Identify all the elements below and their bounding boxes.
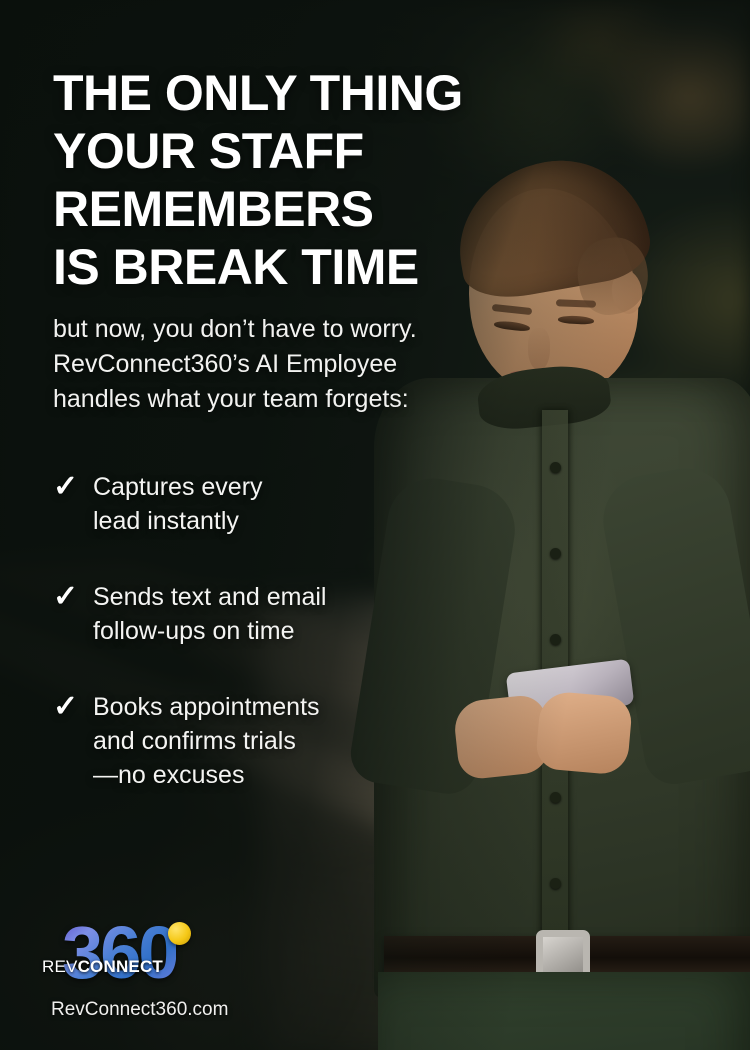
list-item-text: Books appointments and confirms trials —… <box>93 690 320 792</box>
list-item-line: —no excuses <box>93 758 320 792</box>
list-item: ✓ Captures every lead instantly <box>53 470 473 538</box>
list-item: ✓ Books appointments and confirms trials… <box>53 690 473 792</box>
list-item-line: and confirms trials <box>93 724 320 758</box>
logo-wordmark-connect: CONNECT <box>78 957 163 976</box>
headline: THE ONLY THING YOUR STAFF REMEMBERS IS B… <box>53 64 523 296</box>
subheadline-line: handles what your team forgets: <box>53 382 503 417</box>
list-item: ✓ Sends text and email follow-ups on tim… <box>53 580 473 648</box>
feature-list: ✓ Captures every lead instantly ✓ Sends … <box>53 470 473 834</box>
headline-line: THE ONLY THING <box>53 64 523 122</box>
list-item-line: Books appointments <box>93 690 320 724</box>
ad-poster: THE ONLY THING YOUR STAFF REMEMBERS IS B… <box>0 0 750 1050</box>
check-icon: ✓ <box>53 470 93 504</box>
headline-line: IS BREAK TIME <box>53 238 523 296</box>
list-item-line: Captures every <box>93 470 263 504</box>
subheadline: but now, you don’t have to worry. RevCon… <box>53 312 503 417</box>
list-item-text: Sends text and email follow-ups on time <box>93 580 326 648</box>
check-icon: ✓ <box>53 690 93 724</box>
gold-sphere-icon <box>168 922 191 945</box>
subheadline-line: but now, you don’t have to worry. <box>53 312 503 347</box>
logo-mark: 360 REVCONNECT <box>42 920 222 992</box>
list-item-line: Sends text and email <box>93 580 326 614</box>
logo-wordmark-rev: REV <box>42 957 78 976</box>
brand-logo[interactable]: 360 REVCONNECT RevConnect360.com <box>42 920 272 992</box>
website-url[interactable]: RevConnect360.com <box>51 998 228 1022</box>
subheadline-line: RevConnect360’s AI Employee <box>53 347 503 382</box>
poster-content: THE ONLY THING YOUR STAFF REMEMBERS IS B… <box>0 0 750 1050</box>
headline-line: YOUR STAFF <box>53 122 523 180</box>
list-item-line: lead instantly <box>93 504 263 538</box>
list-item-line: follow-ups on time <box>93 614 326 648</box>
logo-wordmark: REVCONNECT <box>42 958 163 975</box>
logo-360-numerals: 360 <box>62 916 176 990</box>
check-icon: ✓ <box>53 580 93 614</box>
headline-line: REMEMBERS <box>53 180 523 238</box>
list-item-text: Captures every lead instantly <box>93 470 263 538</box>
